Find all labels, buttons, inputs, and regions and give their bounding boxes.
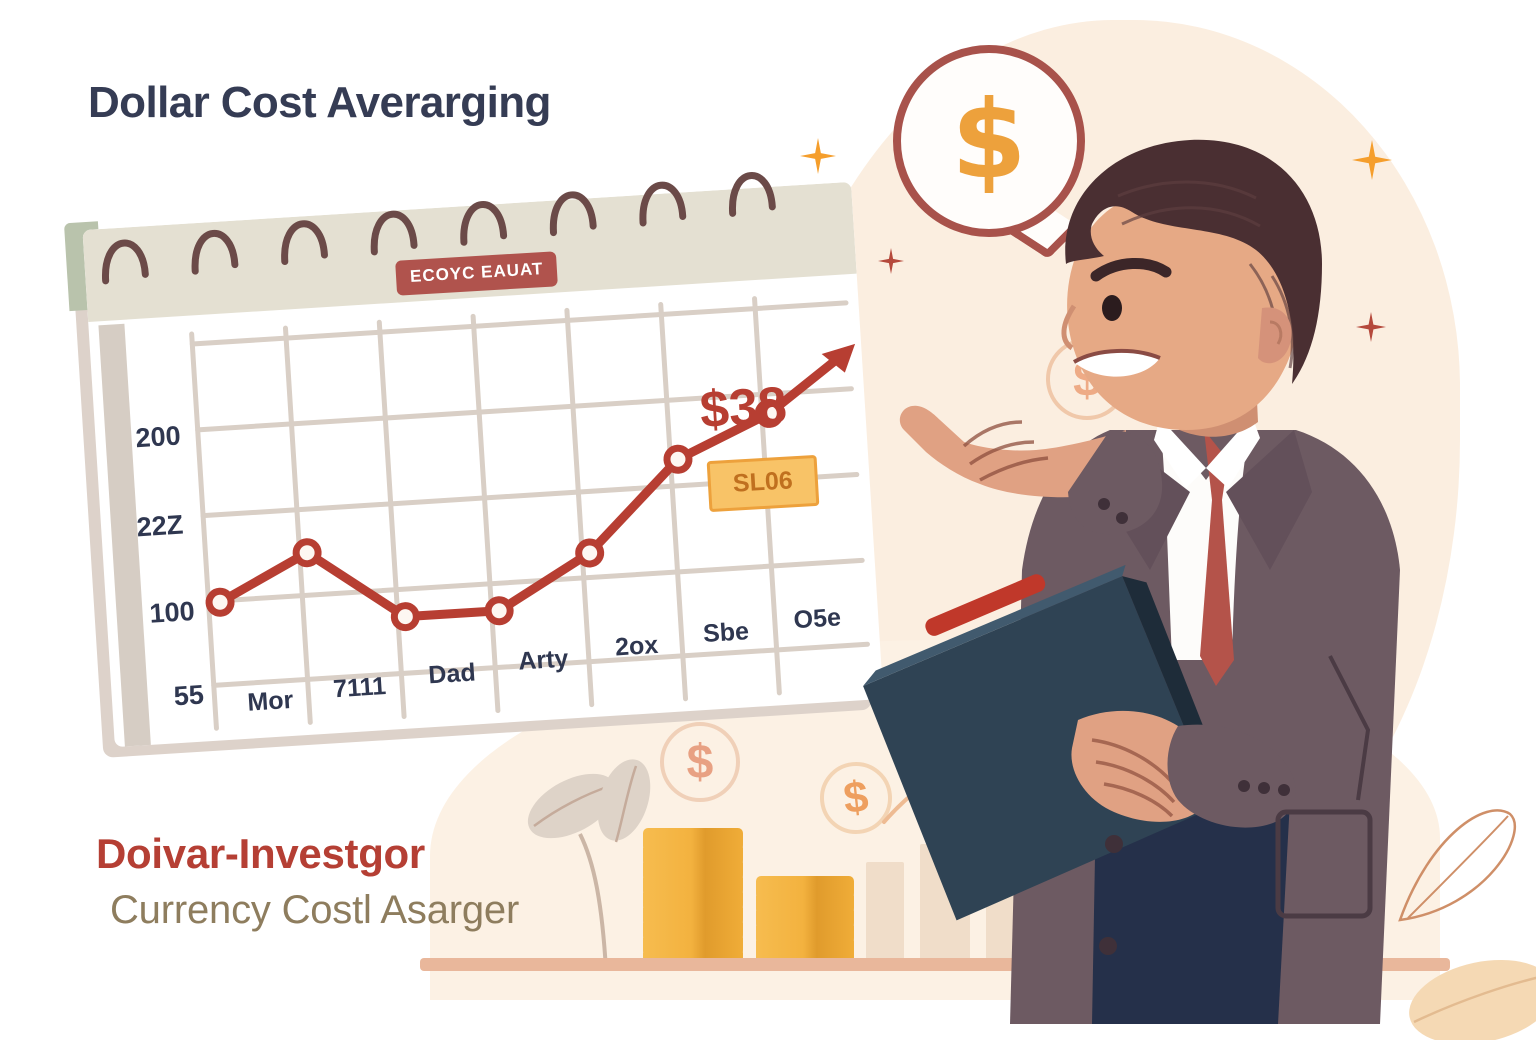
sleeve-button xyxy=(1116,512,1128,524)
sleeve-button xyxy=(1098,498,1110,510)
x-axis-label-3: Arty xyxy=(498,643,590,678)
x-axis-label-6: O5e xyxy=(771,602,863,637)
subtitle-secondary: Currency Costl Asarger xyxy=(110,888,519,933)
x-axis-label-0: Mor xyxy=(225,685,317,720)
data-point xyxy=(394,605,417,628)
x-axis-label-1: 7111 xyxy=(314,671,406,706)
y-axis-label-3: 55 xyxy=(113,680,205,717)
jacket-button xyxy=(1099,937,1117,955)
businessman-illustration xyxy=(860,100,1480,1024)
jacket-button xyxy=(1105,835,1123,853)
data-point xyxy=(487,599,510,622)
y-axis-label-0: 200 xyxy=(90,420,182,457)
subtitle-primary: Doivar-Investgor xyxy=(96,830,425,878)
cuff-dot xyxy=(1238,780,1250,792)
page-title: Dollar Cost Averarging xyxy=(88,78,551,128)
data-point xyxy=(666,448,689,471)
y-axis-label-1: 22Z xyxy=(92,509,184,546)
coin-stack-tall xyxy=(643,828,743,962)
data-point xyxy=(208,591,231,614)
x-axis-label-4: 2ox xyxy=(591,629,683,664)
cuff-dot xyxy=(1258,782,1270,794)
illustration-canvas: Dollar Cost Averarging $ $ $ $ xyxy=(0,0,1536,1024)
data-point xyxy=(578,541,601,564)
eye xyxy=(1102,295,1122,321)
data-point xyxy=(295,541,318,564)
coin-stack-short xyxy=(756,876,854,962)
amber-value-badge[interactable]: SL06 xyxy=(707,455,820,512)
x-axis-label-2: Dad xyxy=(406,657,498,692)
y-axis-label-2: 100 xyxy=(104,596,196,633)
price-callout: $38 xyxy=(698,375,788,440)
x-axis-label-5: Sbe xyxy=(680,616,772,651)
cuff-dot xyxy=(1278,784,1290,796)
